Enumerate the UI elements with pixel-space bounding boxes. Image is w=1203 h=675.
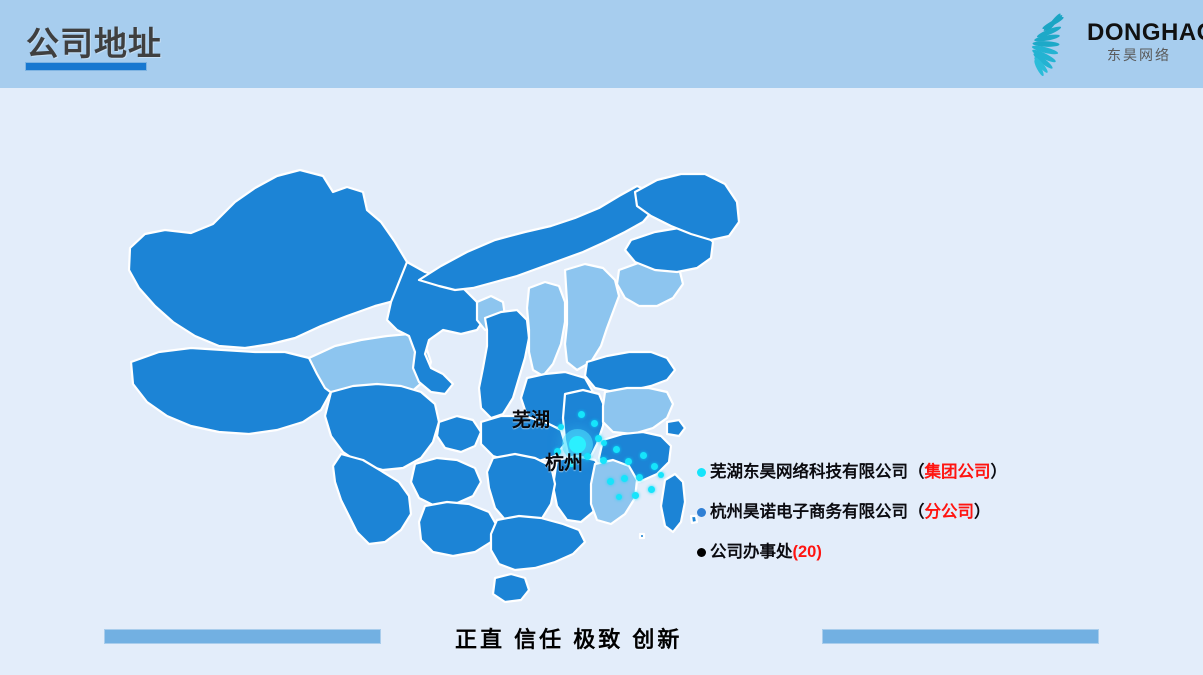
city-label-hangzhou: 杭州: [545, 448, 583, 475]
marker-office[interactable]: [658, 472, 664, 478]
legend-label: 公司办事处: [710, 542, 793, 562]
legend-bullet-blue: [697, 508, 706, 517]
logo-name: DONGHAO: [1087, 20, 1191, 46]
legend-accent: 分公司: [925, 502, 975, 522]
legend-label: 杭州昊诺电子商务有限公司（: [710, 502, 925, 522]
island-dot-b: [640, 534, 644, 538]
legend-item-branch-company: 杭州昊诺电子商务有限公司（ 分公司 ）: [697, 502, 1127, 522]
marker-office[interactable]: [591, 420, 598, 427]
logo-subtitle: 东昊网络: [1087, 46, 1191, 64]
province-shandong: [585, 352, 675, 392]
province-guangdong: [491, 516, 585, 570]
legend: 芜湖东昊网络科技有限公司（ 集团公司 ） 杭州昊诺电子商务有限公司（ 分公司 ）…: [697, 462, 1127, 562]
marker-office[interactable]: [648, 486, 655, 493]
province-chongqing: [437, 416, 481, 452]
title-underline: [25, 62, 147, 71]
legend-item-group-company: 芜湖东昊网络科技有限公司（ 集团公司 ）: [697, 462, 1127, 482]
legend-tail: ）: [974, 502, 991, 522]
footer-bar-left: [104, 629, 381, 644]
legend-tail: ）: [991, 462, 1008, 482]
marker-office[interactable]: [600, 457, 607, 464]
logo-text: DONGHAO 东昊网络: [1087, 20, 1191, 64]
brand-logo: DONGHAO 东昊网络: [1019, 8, 1189, 80]
legend-accent: (20): [793, 542, 822, 562]
marker-office[interactable]: [613, 446, 620, 453]
province-taiwan: [661, 474, 685, 532]
legend-item-offices: 公司办事处 (20): [697, 542, 1127, 562]
marker-office[interactable]: [558, 424, 564, 430]
marker-office[interactable]: [578, 411, 585, 418]
province-shanghai: [667, 420, 685, 436]
province-jiangsu: [603, 388, 673, 434]
marker-office[interactable]: [616, 494, 622, 500]
marker-office[interactable]: [621, 475, 628, 482]
china-map-svg: [95, 130, 755, 620]
marker-office[interactable]: [632, 492, 639, 499]
city-label-wuhu: 芜湖: [512, 405, 550, 432]
legend-bullet-black: [697, 548, 706, 557]
province-heilongjiang: [635, 174, 739, 240]
marker-office[interactable]: [636, 474, 643, 481]
marker-office[interactable]: [651, 463, 658, 470]
province-hainan: [493, 574, 529, 602]
province-hebei: [565, 264, 619, 370]
marker-office[interactable]: [625, 458, 632, 465]
legend-label: 芜湖东昊网络科技有限公司（: [710, 462, 925, 482]
legend-bullet-cyan: [697, 468, 706, 477]
marker-office[interactable]: [640, 452, 647, 459]
province-guizhou: [411, 458, 481, 506]
province-xinjiang: [129, 170, 419, 348]
marker-office[interactable]: [584, 453, 591, 460]
footer-slogan: 正直 信任 极致 创新: [455, 622, 745, 654]
page-header: 公司地址 DONGHAO: [0, 0, 1203, 88]
province-tibet: [131, 348, 331, 434]
feather-fan-icon: [1019, 10, 1087, 78]
province-shanxi: [527, 282, 565, 376]
legend-accent: 集团公司: [925, 462, 991, 482]
province-fujian: [591, 460, 637, 524]
province-guangxi: [419, 502, 497, 556]
footer-bar-right: [822, 629, 1099, 644]
page-title: 公司地址: [26, 17, 162, 65]
china-map: 芜湖 杭州: [95, 130, 755, 620]
marker-office-hangzhou[interactable]: [601, 440, 607, 446]
marker-office[interactable]: [607, 478, 614, 485]
